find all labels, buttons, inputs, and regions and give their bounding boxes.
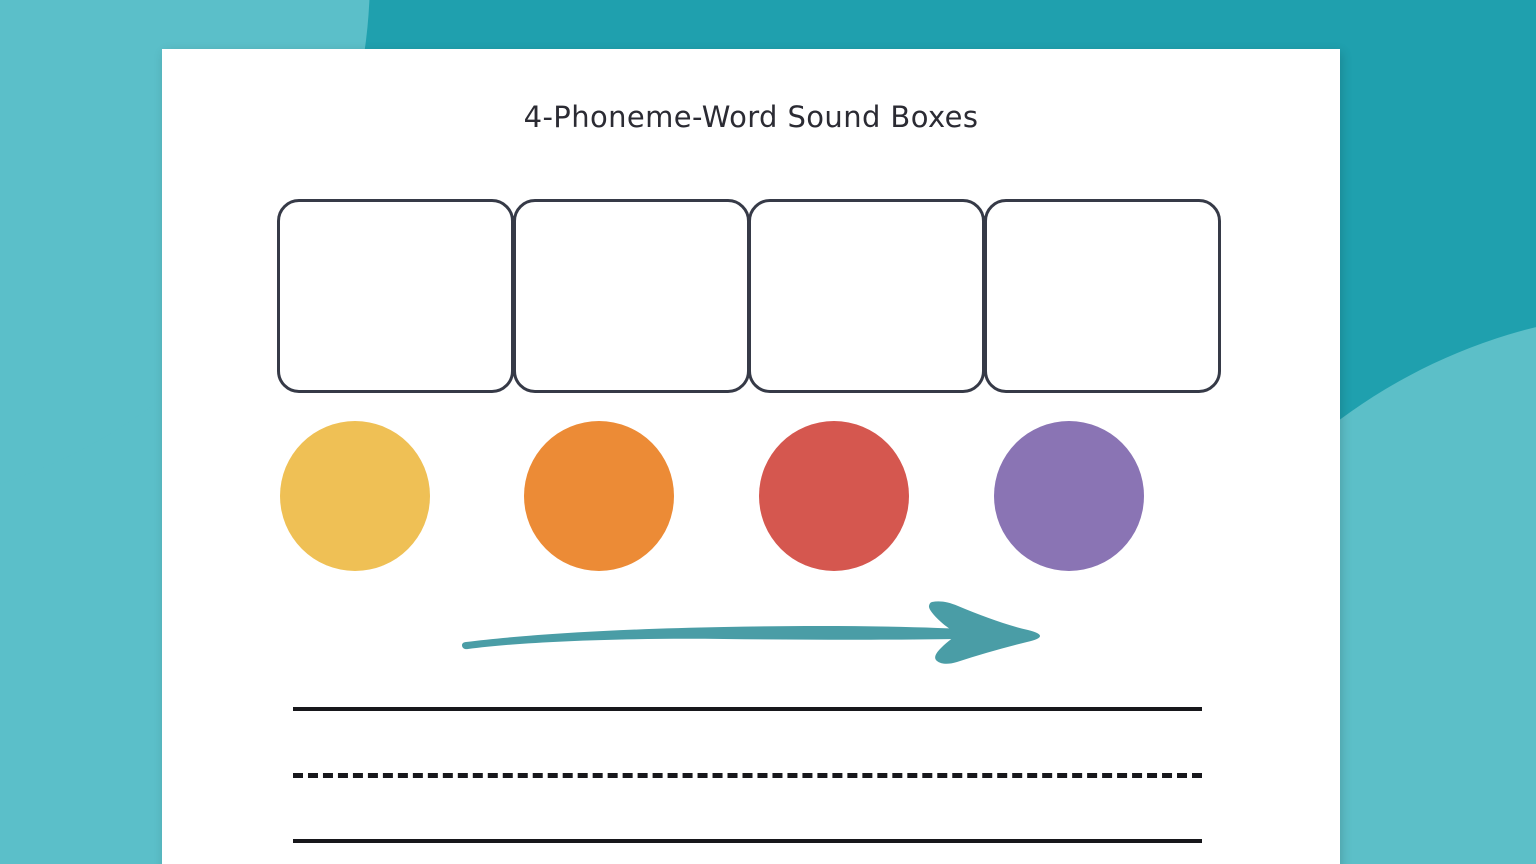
- page-title: 4-Phoneme-Word Sound Boxes: [162, 100, 1340, 134]
- sound-box-4[interactable]: [984, 199, 1221, 393]
- handwriting-lines: [293, 694, 1202, 864]
- sound-box-1[interactable]: [277, 199, 514, 393]
- worksheet-canvas: 4-Phoneme-Word Sound Boxes: [0, 0, 1536, 864]
- sound-boxes-row: [277, 199, 1221, 393]
- worksheet-page: 4-Phoneme-Word Sound Boxes: [162, 49, 1340, 864]
- phoneme-dot-yellow[interactable]: [280, 421, 430, 571]
- writing-line-top-solid: [293, 707, 1202, 711]
- phoneme-dots-row: [277, 421, 1221, 571]
- sound-box-2[interactable]: [513, 199, 750, 393]
- writing-line-bottom-solid: [293, 839, 1202, 843]
- writing-line-middle-dashed: [293, 773, 1202, 778]
- phoneme-dot-purple[interactable]: [994, 421, 1144, 571]
- direction-arrow-icon: [462, 594, 1042, 664]
- phoneme-dot-orange[interactable]: [524, 421, 674, 571]
- phoneme-dot-red[interactable]: [759, 421, 909, 571]
- sound-box-3[interactable]: [748, 199, 985, 393]
